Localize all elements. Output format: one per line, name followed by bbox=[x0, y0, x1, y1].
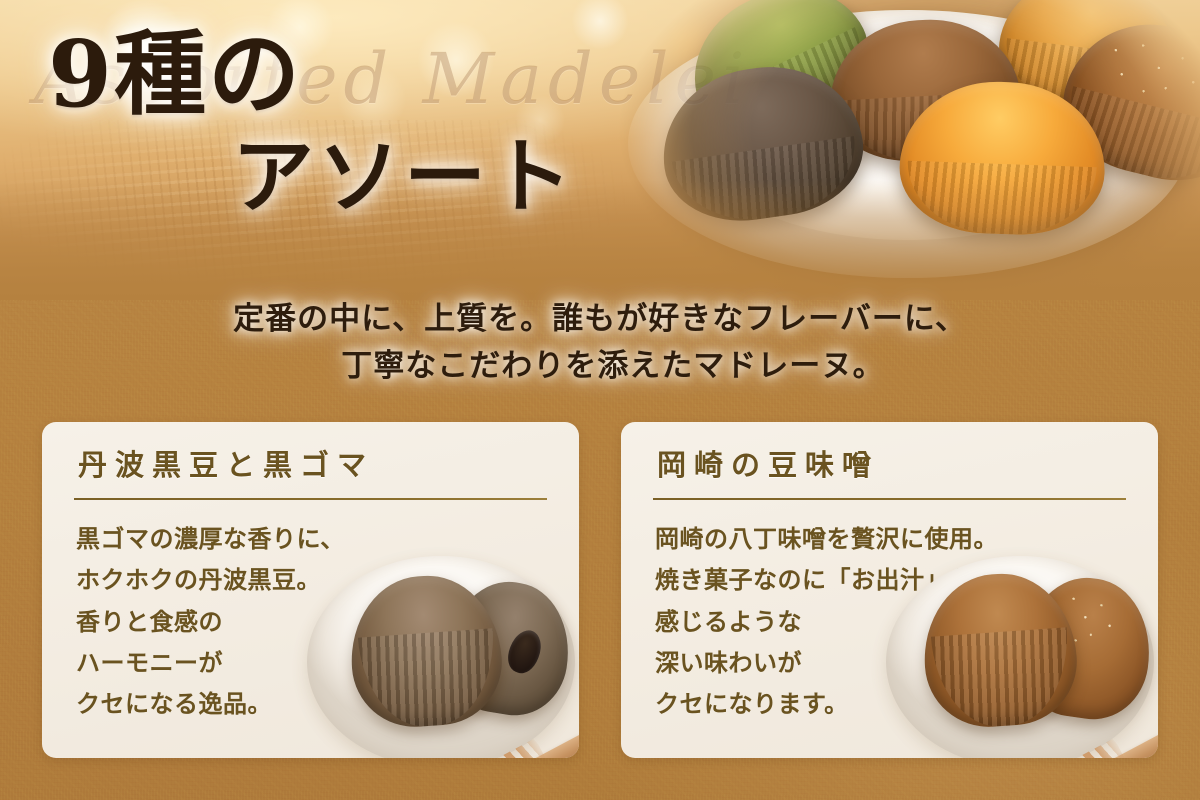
flavor-card-list: 丹波黒豆と黒ゴマ 黒ゴマの濃厚な香りに、 ホクホクの丹波黒豆。 香りと食感の ハ… bbox=[42, 422, 1158, 758]
subtitle-line-2: 丁寧なこだわりを添えたマドレーヌ。 bbox=[0, 343, 1200, 390]
title-divider bbox=[74, 498, 547, 500]
title-divider bbox=[653, 498, 1126, 500]
page-title: 9種の アソート bbox=[48, 28, 648, 218]
headline-line-1: 9種の bbox=[48, 28, 648, 120]
card-title: 岡崎の豆味噌 bbox=[657, 442, 879, 484]
subtitle-line-1: 定番の中に、上質を。誰もが好きなフレーバーに、 bbox=[0, 296, 1200, 343]
flavor-card-tanba-kuromame[interactable]: 丹波黒豆と黒ゴマ 黒ゴマの濃厚な香りに、 ホクホクの丹波黒豆。 香りと食感の ハ… bbox=[42, 422, 579, 758]
black-sesame-madeleine-photo bbox=[285, 526, 579, 758]
headline-line-2: アソート bbox=[232, 136, 648, 218]
flavor-card-okazaki-mamemiso[interactable]: 岡崎の豆味噌 岡崎の八丁味噌を贅沢に使用。 焼き菓子なのに「お出汁」を 感じるよ… bbox=[621, 422, 1158, 758]
subtitle: 定番の中に、上質を。誰もが好きなフレーバーに、 丁寧なこだわりを添えたマドレーヌ… bbox=[0, 296, 1200, 390]
promo-banner: Assorted Madeleine bbox=[0, 0, 1200, 800]
card-title: 丹波黒豆と黒ゴマ bbox=[78, 442, 374, 484]
miso-madeleine-photo bbox=[864, 526, 1158, 758]
